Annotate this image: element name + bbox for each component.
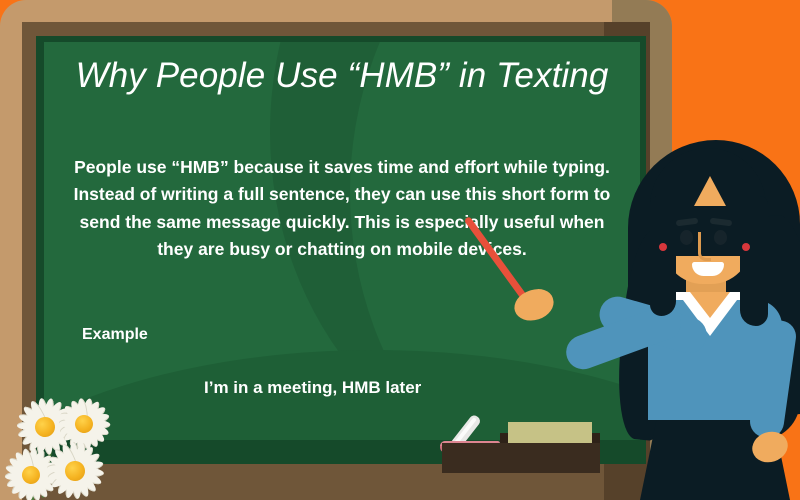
right-earring [742, 243, 750, 251]
right-eye [714, 230, 727, 245]
hair-side-right [740, 196, 768, 326]
left-hand [510, 285, 557, 326]
chalkboard-infographic: Why People Use “HMB” in Texting People u… [0, 0, 800, 500]
teacher-illustration [0, 0, 800, 500]
hair-side-left [650, 196, 676, 316]
left-earring [659, 243, 667, 251]
nose [698, 232, 711, 261]
left-eye [680, 230, 693, 245]
